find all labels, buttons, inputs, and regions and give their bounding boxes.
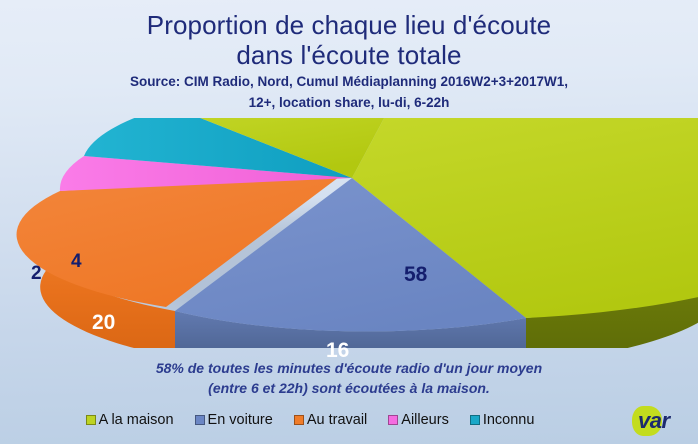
chart-annotation-line-1: 58% de toutes les minutes d'écoute radio… bbox=[0, 358, 698, 378]
chart-title-line-2: dans l'écoute totale bbox=[0, 40, 698, 70]
chart-annotation-line-2: (entre 6 et 22h) sont écoutées à la mais… bbox=[0, 378, 698, 398]
legend-label: Au travail bbox=[307, 412, 367, 428]
legend-swatch-icon bbox=[470, 415, 480, 425]
legend-swatch-icon bbox=[388, 415, 398, 425]
pie-value-label-a-la-maison: 58 bbox=[404, 264, 427, 285]
legend-item-en-voiture[interactable]: En voiture bbox=[195, 412, 273, 428]
legend-swatch-icon bbox=[195, 415, 205, 425]
legend-label: Inconnu bbox=[483, 412, 535, 428]
chart-source-line-2: 12+, location share, lu-di, 6-22h bbox=[0, 94, 698, 112]
pie-value-label-au-travail: 20 bbox=[92, 312, 115, 333]
legend-label: En voiture bbox=[208, 412, 273, 428]
legend-item-a-la-maison[interactable]: A la maison bbox=[86, 412, 174, 428]
chart-title-block: Proportion de chaque lieu d'écoute dans … bbox=[0, 10, 698, 112]
legend-label: A la maison bbox=[99, 412, 174, 428]
pie-value-label-ailleurs: 2 bbox=[31, 263, 42, 284]
legend-swatch-icon bbox=[86, 415, 96, 425]
legend-label: Ailleurs bbox=[401, 412, 449, 428]
chart-legend: A la maison En voiture Au travail Ailleu… bbox=[0, 412, 620, 428]
legend-item-au-travail[interactable]: Au travail bbox=[294, 412, 367, 428]
legend-item-inconnu[interactable]: Inconnu bbox=[470, 412, 535, 428]
legend-item-ailleurs[interactable]: Ailleurs bbox=[388, 412, 449, 428]
legend-swatch-icon bbox=[294, 415, 304, 425]
chart-source-line-1: Source: CIM Radio, Nord, Cumul Médiaplan… bbox=[0, 73, 698, 91]
chart-title-line-1: Proportion de chaque lieu d'écoute bbox=[0, 10, 698, 40]
pie-chart-area: 58 16 20 2 4 bbox=[0, 118, 698, 348]
chart-container: Proportion de chaque lieu d'écoute dans … bbox=[0, 0, 698, 444]
pie-value-label-inconnu: 4 bbox=[71, 251, 82, 272]
chart-annotation: 58% de toutes les minutes d'écoute radio… bbox=[0, 358, 698, 398]
logo-wordmark: var bbox=[638, 409, 670, 433]
var-logo: var bbox=[632, 404, 690, 438]
